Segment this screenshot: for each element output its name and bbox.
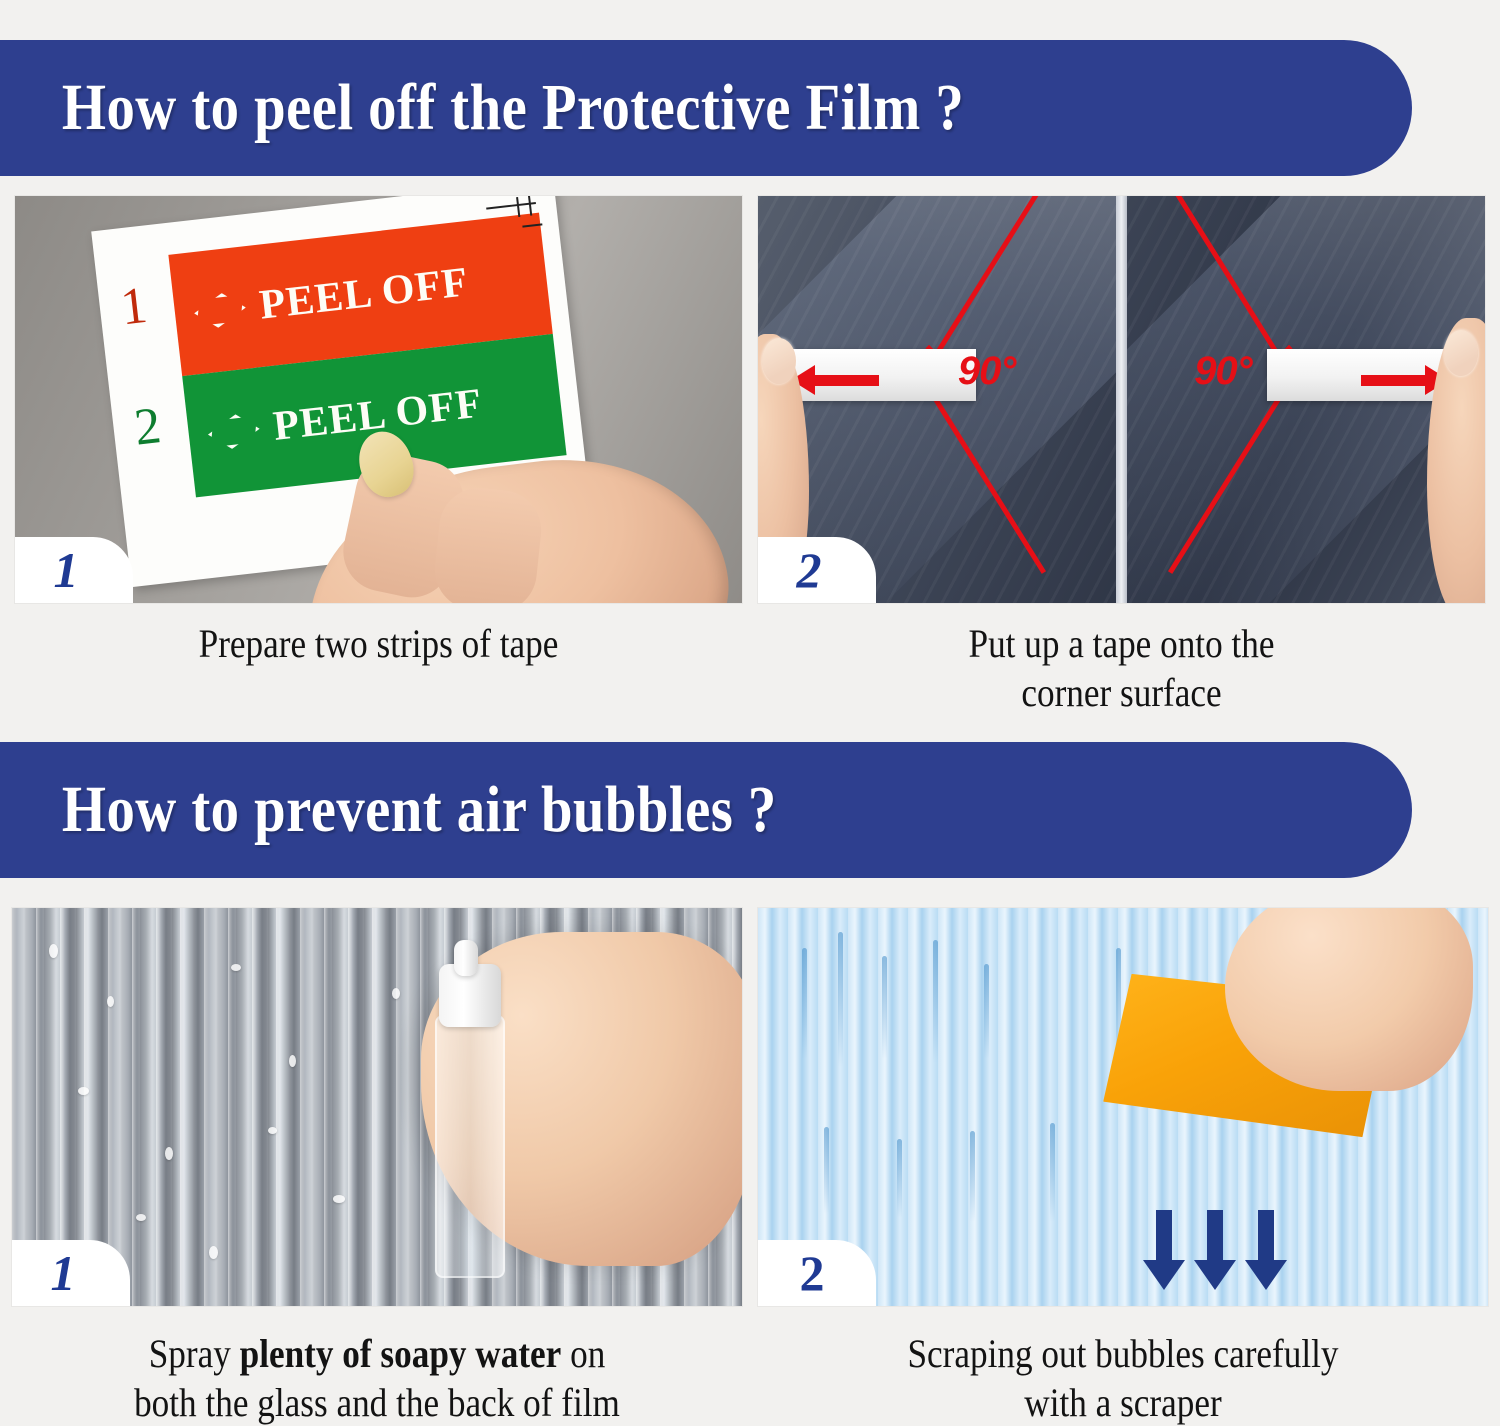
step-badge-2: 2	[758, 1240, 876, 1306]
bubble-streak	[984, 964, 989, 1060]
step-badge-1: 1	[15, 537, 133, 603]
direction-arrow-right	[1361, 375, 1427, 386]
step-badge-number: 1	[51, 1248, 92, 1298]
bubble-streak	[838, 932, 843, 1067]
water-droplet	[49, 944, 58, 958]
photo-panel-scrape-bubbles: 2	[758, 908, 1488, 1306]
section-title-peel-film: How to peel off the Protective Film ?	[0, 75, 964, 141]
bubble-streak	[824, 1127, 829, 1215]
caption-line-1-bold: plenty of soapy water	[240, 1331, 562, 1376]
fingernail	[762, 338, 796, 384]
caption-line-1-pre: Spray	[149, 1331, 240, 1376]
section-banner-peel-film: How to peel off the Protective Film ?	[0, 40, 1412, 176]
bubble-streak	[802, 948, 807, 1059]
caption-scrape-bubbles: Scraping out bubbles carefully with a sc…	[802, 1330, 1444, 1426]
caption-line-2: corner surface	[1021, 670, 1221, 715]
caption-line-1-post: on	[561, 1331, 605, 1376]
peel-diamond-icon	[206, 411, 261, 451]
step-badge-number: 2	[800, 1248, 835, 1298]
photo-panel-prepare-tape: 1 2 PEEL OFF PEEL OFF	[15, 196, 742, 603]
sticker-label-orange-text: PEEL OFF	[257, 258, 471, 329]
caption-line-2: both the glass and the back of film	[134, 1380, 620, 1425]
caption-spray-soapy-water: Spray plenty of soapy water on both the …	[56, 1330, 698, 1426]
infographic-page: How to peel off the Protective Film ? 1 …	[0, 0, 1500, 1426]
water-droplet	[333, 1195, 345, 1203]
section-banner-prevent-bubbles: How to prevent air bubbles ?	[0, 742, 1412, 878]
fingernail	[1444, 330, 1478, 376]
sticker-number-2: 2	[131, 401, 163, 456]
down-arrow-icon	[1258, 1210, 1274, 1262]
spray-bottle-body	[435, 1015, 504, 1278]
angle-label-right: 90°	[1194, 351, 1252, 391]
down-arrow-icon	[1207, 1210, 1223, 1262]
crop-mark-icon	[485, 196, 545, 241]
water-droplet	[231, 964, 241, 971]
bubble-streak	[1050, 1123, 1055, 1223]
peel-diamond-icon	[192, 290, 247, 330]
water-droplet	[268, 1127, 277, 1134]
step-badge-number: 1	[54, 545, 95, 595]
caption-tape-corner: Put up a tape onto the corner surface	[802, 620, 1442, 718]
hand-holding-scraper	[1225, 908, 1473, 1091]
caption-text: Prepare two strips of tape	[199, 621, 559, 666]
step-badge-1: 1	[12, 1240, 130, 1306]
step-badge-number: 2	[797, 545, 838, 595]
photo-panel-tape-corner: 90° 90° 2	[758, 196, 1485, 603]
bubble-streak	[933, 940, 938, 1063]
caption-line-2: with a scraper	[1024, 1380, 1221, 1425]
direction-arrow-left	[813, 375, 879, 386]
finger	[431, 484, 545, 603]
caption-prepare-tape: Prepare two strips of tape	[59, 620, 699, 669]
glass-pane-divider	[1116, 196, 1126, 603]
water-droplet	[392, 988, 400, 999]
bubble-streak	[882, 956, 887, 1059]
bubble-streak	[970, 1131, 975, 1223]
water-droplet	[78, 1087, 89, 1095]
sticker-number-1: 1	[118, 280, 150, 335]
angle-label-left: 90°	[958, 351, 1016, 391]
photo-panel-spray-soapy-water: 1	[12, 908, 742, 1306]
water-droplet	[107, 996, 114, 1007]
down-arrow-icon	[1156, 1210, 1172, 1262]
bubble-streak	[897, 1139, 902, 1219]
caption-line-1: Scraping out bubbles carefully	[907, 1331, 1338, 1376]
section-title-prevent-bubbles: How to prevent air bubbles ?	[0, 777, 777, 843]
caption-line-1: Put up a tape onto the	[969, 621, 1275, 666]
step-badge-2: 2	[758, 537, 876, 603]
spray-bottle-tip	[454, 940, 479, 976]
